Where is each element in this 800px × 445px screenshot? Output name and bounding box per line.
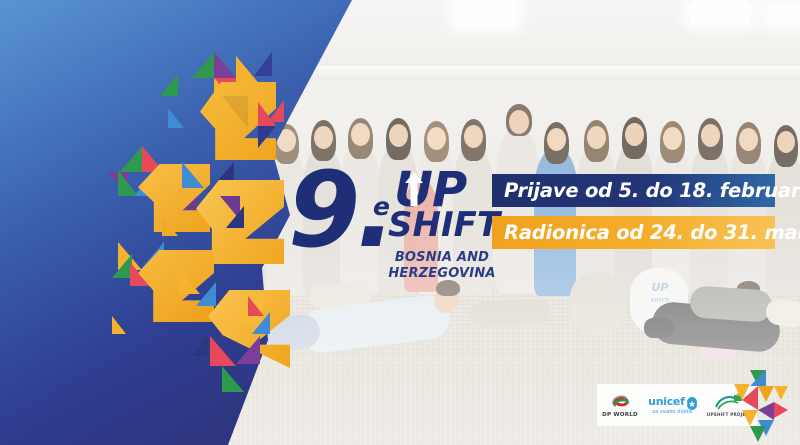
triangle-navy (254, 52, 272, 76)
applications-date-text: Prijave od 5. do 18. februara 2024. (504, 179, 800, 202)
partner-logo-dpworld: DP WORLD (602, 392, 638, 418)
triangle-teal (196, 282, 216, 306)
triangle-yellow-small (162, 216, 178, 236)
country-line-2: HERZEGOVINA (388, 266, 495, 281)
unicef-logo-row: unicef (648, 395, 696, 408)
eupshift-wordmark: 9. e UP SHIFT BOSNIA AND HERZEGOVINA (288, 158, 498, 288)
triangle-teal (182, 162, 204, 188)
triangle-purple (214, 52, 236, 78)
dpworld-swirl-icon (611, 392, 630, 411)
logo-strip-tangram-accent (724, 366, 792, 442)
applications-date-banner: Prijave od 5. do 18. februara 2024. (492, 174, 775, 207)
country-label: BOSNIA AND HERZEGOVINA (386, 250, 498, 283)
eupshift-promo-poster: UPSHIFT (0, 0, 800, 445)
partner-logo-unicef: unicef za svako dijete (648, 395, 696, 415)
triangle-green (160, 74, 178, 96)
country-line-1: BOSNIA AND (395, 250, 489, 265)
triangle-red (210, 336, 236, 366)
dpworld-label: DP WORLD (602, 412, 638, 418)
triangle-yellow-small (112, 316, 126, 334)
unicef-tagline: za svako dijete (652, 409, 692, 415)
triangle-teal (168, 108, 184, 128)
triangle-navy (258, 126, 276, 148)
triangle-navy-small (192, 336, 208, 356)
workshop-date-banner: Radionica od 24. do 31. marta 2024. (492, 216, 775, 249)
triangle-green (120, 146, 142, 172)
triangle-navy (226, 206, 244, 228)
brand-shift-text: SHIFT (388, 208, 500, 242)
triangle-red (268, 100, 284, 122)
workshop-date-text: Radionica od 24. do 31. marta 2024. (504, 221, 800, 244)
triangle-green (222, 366, 244, 392)
unicef-globe-icon (687, 397, 697, 407)
up-arrow-icon (405, 172, 423, 206)
triangle-purple (236, 336, 260, 364)
triangle-red (248, 296, 264, 316)
triangle-green (112, 254, 132, 278)
triangle-yellow-shade (222, 96, 248, 128)
unicef-wordmark: unicef (648, 395, 684, 408)
triangle-green (192, 52, 214, 78)
